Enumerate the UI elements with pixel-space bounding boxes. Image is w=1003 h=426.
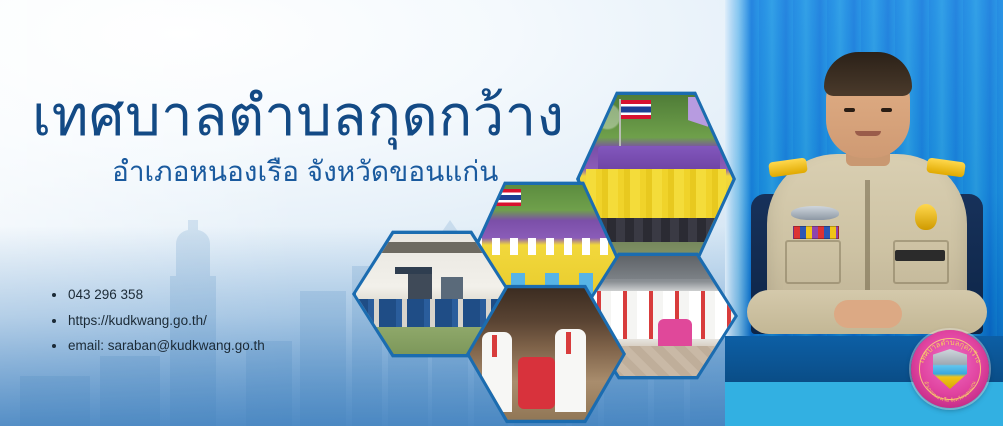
white-hats-row: [474, 238, 615, 256]
municipality-seal-logo[interactable]: เทศบาลตำบลกุดกว้าง อำเภอหนองเรือ จังหวัด…: [911, 330, 989, 408]
page-title: เทศบาลตำบลกุดกว้าง: [32, 88, 565, 144]
banner-root: เทศบาลตำบลกุดกว้าง อำเภอหนองเรือ จังหวัด…: [0, 0, 1003, 426]
purple-flag-icon: [688, 97, 708, 127]
attendees-row: [359, 299, 506, 327]
contact-item-email[interactable]: email: saraban@kudkwang.go.th: [52, 339, 265, 353]
page-subtitle: อำเภอหนองเรือ จังหวัดขอนแก่น: [112, 158, 498, 186]
contact-item-phone[interactable]: 043 296 358: [52, 288, 265, 302]
red-scarf-right: [566, 332, 571, 354]
building-window: [441, 277, 462, 302]
red-scarf-left: [492, 335, 497, 357]
contact-list: 043 296 358 https://kudkwang.go.th/ emai…: [52, 288, 265, 365]
elderly-in-wheelchair: [518, 357, 555, 409]
building-sign: [395, 267, 432, 275]
thai-flag-icon: [495, 189, 521, 206]
thai-flag-icon: [621, 100, 651, 119]
contact-item-website[interactable]: https://kudkwang.go.th/: [52, 314, 265, 328]
